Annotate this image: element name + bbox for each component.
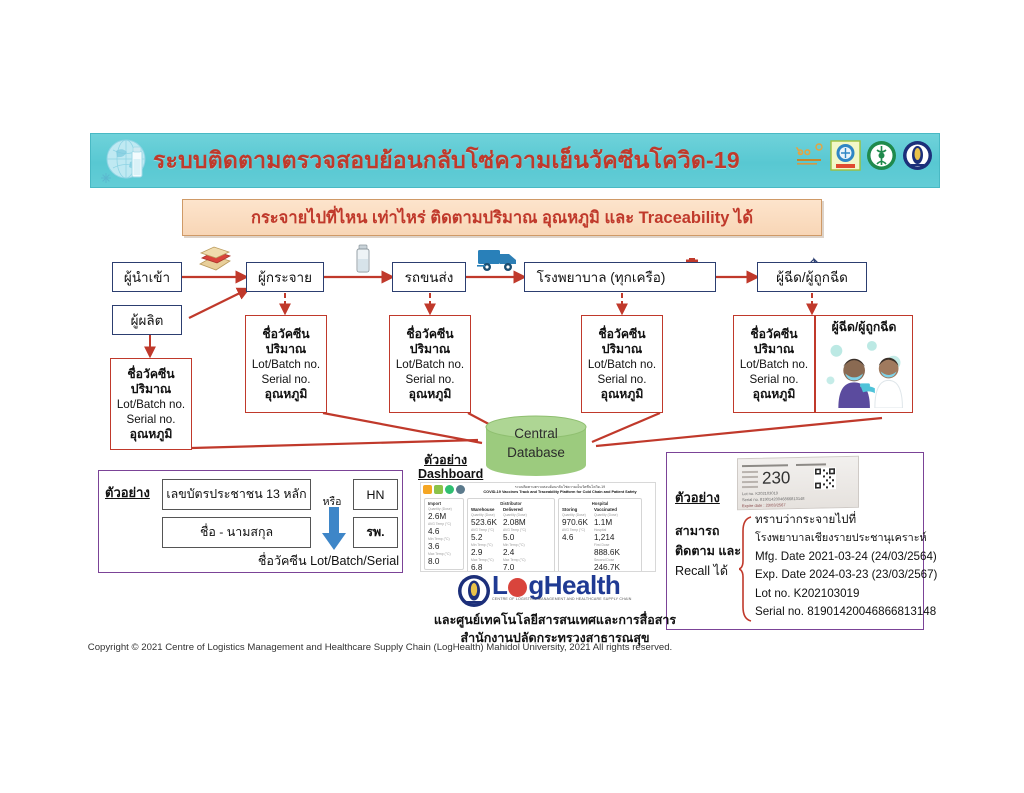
subtitle-text: กระจายไปที่ไหน เท่าไหร่ ติดตามปริมาณ อุณ… xyxy=(251,205,753,231)
dashboard-title-label: Dashboard xyxy=(418,467,483,481)
metric-delivered-avgtemp: AVG Temp (°C) 5.0 xyxy=(503,528,527,543)
loghealth-subtitle: CENTRE OF LOGISTICS MANAGEMENT AND HEALT… xyxy=(492,597,612,601)
book-stack-icon xyxy=(196,244,234,274)
segment-title: Vaccinated xyxy=(594,507,620,512)
metric-value: 2.4 xyxy=(503,548,527,558)
dashboard-screenshot[interactable]: ระบบติดตามตรวจสอบย้อนกลับโซ่ความเย็นวัคซ… xyxy=(420,482,656,572)
data-field-quantity: ปริมาณ xyxy=(754,342,794,357)
metric-delivered-mintemp: Min Temp (°C) 2.4 xyxy=(503,543,527,558)
globe-icon xyxy=(456,485,465,494)
data-field-serial: Serial no. xyxy=(750,372,799,387)
databox-injector: ชื่อวัคซีน ปริมาณ Lot/Batch no. Serial n… xyxy=(733,315,815,413)
data-field-lot: Lot/Batch no. xyxy=(396,357,464,372)
vial-label-lot: Lot no. K202103019 xyxy=(742,490,778,496)
hn-label: HN xyxy=(367,488,385,502)
mahidol-logo-icon xyxy=(457,574,491,608)
hospital-field[interactable]: รพ. xyxy=(353,517,398,548)
panel-title-hospital: Hospital xyxy=(562,501,638,506)
dashboard-segment-vaccinated: Vaccinated Quantity (Dose) 1.1M Hospital… xyxy=(594,507,620,572)
globe-vaccine-vial-icon xyxy=(96,137,166,187)
detail-line-2: โรงพยาบาลเชียงรายประชานุเคราะห์ xyxy=(755,529,925,547)
dashboard-header: ระบบติดตามตรวจสอบย้อนกลับโซ่ความเย็นวัคซ… xyxy=(421,483,655,496)
metric-import-mintemp: Min Temp (°C) 3.6 xyxy=(428,537,460,552)
metric-delivered-quantity: Quantity (Dose) 2.08M xyxy=(503,513,527,528)
dashboard-segment-delivered: Delivered Quantity (Dose) 2.08M AVG Temp… xyxy=(503,507,527,572)
crest-fda-thailand-icon xyxy=(830,140,861,171)
actor-label-importer: ผู้นำเข้า xyxy=(124,266,170,288)
dashboard-header-text: ระบบติดตามตรวจสอบย้อนกลับโซ่ความเย็นวัคซ… xyxy=(467,485,653,495)
recall-line-2: ติดตาม และ xyxy=(675,541,745,561)
central-database-label: Central Database xyxy=(484,424,588,462)
mobile-icon xyxy=(434,485,443,494)
segment-title: Storing xyxy=(562,507,588,512)
metric-value: 970.6K xyxy=(562,518,588,528)
chart-icon xyxy=(423,485,432,494)
data-field-vaccine-name: ชื่อวัคซีน xyxy=(127,367,174,382)
subtitle-bar: กระจายไปที่ไหน เท่าไหร่ ติดตามปริมาณ อุณ… xyxy=(182,199,822,236)
data-field-temperature: อุณหภูมิ xyxy=(601,387,644,402)
brace-icon xyxy=(739,515,753,623)
data-field-serial: Serial no. xyxy=(262,372,311,387)
metric-import-maxtemp: Max Temp (°C) 8.0 xyxy=(428,552,460,567)
actor-box-injector[interactable]: ผู้ฉีด/ผู้ถูกฉีด xyxy=(757,262,867,292)
example-right-label: ตัวอย่าง xyxy=(675,487,720,508)
example-box-patient-id: ตัวอย่าง เลขบัตรประชาชน 13 หลัก ชื่อ - น… xyxy=(98,470,403,573)
data-field-lot: Lot/Batch no. xyxy=(252,357,320,372)
dashboard-panel-import: Import Quantity (Dose) 2.6M AVG Temp (°C… xyxy=(424,498,464,570)
actor-label-distributor: ผู้กระจาย xyxy=(258,266,312,288)
actor-box-importer[interactable]: ผู้นำเข้า xyxy=(112,262,182,292)
dashboard-body: Import Quantity (Dose) 2.6M AVG Temp (°C… xyxy=(421,496,655,572)
metric-vaccinated-first-dose: First Dose 888.6K xyxy=(594,543,620,558)
dashboard-segment-warehouse: Warehouse Quantity (Dose) 523.6K AVG Tem… xyxy=(471,507,497,572)
detail-line-6: Serial no. 81901420046866813148 xyxy=(755,603,925,621)
example-left-footer: ชื่อวัคซีน Lot/Batch/Serial xyxy=(99,551,399,571)
hn-field[interactable]: HN xyxy=(353,479,398,510)
data-field-vaccine-name: ชื่อวัคซีน xyxy=(406,327,453,342)
vial-label-expire: Expire date : 23/03/2567 xyxy=(742,502,786,508)
metric-import-quantity: Quantity (Dose) 2.6M xyxy=(428,507,460,522)
data-field-quantity: ปริมาณ xyxy=(410,342,450,357)
vaccine-vial-icon xyxy=(350,243,376,275)
crest-ministry-public-health-icon xyxy=(866,140,897,171)
hospital-label: รพ. xyxy=(366,523,384,542)
data-field-quantity: ปริมาณ xyxy=(266,342,306,357)
metric-value: 1,214 xyxy=(594,533,620,543)
metric-value: 2.6M xyxy=(428,512,460,522)
vial-label-serial: Serial no. 81901420046866813148 xyxy=(742,496,805,502)
shield-icon xyxy=(445,485,454,494)
name-field[interactable]: ชื่อ - นามสกุล xyxy=(162,517,311,548)
data-field-lot: Lot/Batch no. xyxy=(740,357,808,372)
copyright-text: Copyright © 2021 Centre of Logistics Man… xyxy=(0,642,760,653)
panel-title-distributor: Distributor xyxy=(471,501,551,506)
vaccination-illustration xyxy=(820,337,908,408)
actor-box-hospital[interactable]: โรงพยาบาล (ทุกเครือ) xyxy=(524,262,716,292)
metric-warehouse-mintemp: Min Temp (°C) 2.9 xyxy=(471,543,497,558)
vaccine-vial-label-photo: 230 Lot no. K202103019 Serial no. 819014… xyxy=(737,456,859,511)
segment-title: Delivered xyxy=(503,507,527,512)
dashboard-panel-hospital: Hospital Storing Quantity (Dose) 970.6K … xyxy=(558,498,642,572)
detail-line-4: Exp. Date 2024-03-23 (23/03/2567) xyxy=(755,566,925,584)
actor-box-manufacturer[interactable]: ผู้ผลิต xyxy=(112,305,182,335)
databox-distributor: ชื่อวัคซีน ปริมาณ Lot/Batch no. Serial n… xyxy=(245,315,327,413)
detail-line-5: Lot no. K202103019 xyxy=(755,585,925,603)
data-field-quantity: ปริมาณ xyxy=(602,342,642,357)
panel-title-import: Import xyxy=(428,501,460,506)
loghealth-dot-icon xyxy=(508,578,527,597)
data-field-serial: Serial no. xyxy=(127,412,176,427)
injector-illustration-panel: ผู้ฉีด/ผู้ถูกฉีด xyxy=(815,315,913,413)
data-field-serial: Serial no. xyxy=(406,372,455,387)
detail-line-3: Mfg. Date 2021-03-24 (24/03/2564) xyxy=(755,548,925,566)
actor-box-transport[interactable]: รถขนส่ง xyxy=(392,262,466,292)
header-banner: ระบบติดตามตรวจสอบย้อนกลับโซ่ความเย็นวัคซ… xyxy=(90,133,940,188)
actor-label-hospital: โรงพยาบาล (ทุกเครือ) xyxy=(537,266,666,288)
data-field-temperature: อุณหภูมิ xyxy=(265,387,308,402)
databox-manufacturer: ชื่อวัคซีน ปริมาณ Lot/Batch no. Serial n… xyxy=(110,358,192,450)
id-number-field[interactable]: เลขบัตรประชาชน 13 หลัก xyxy=(162,479,311,510)
injector-panel-label: ผู้ฉีด/ผู้ถูกฉีด xyxy=(832,320,897,335)
infographic-canvas: ระบบติดตามตรวจสอบย้อนกลับโซ่ความเย็นวัคซ… xyxy=(0,0,1024,793)
metric-value: 2.9 xyxy=(471,548,497,558)
metric-import-avgtemp: AVG Temp (°C) 4.6 xyxy=(428,522,460,537)
example-left-label: ตัวอย่าง xyxy=(105,482,150,503)
traceability-details: ทราบว่ากระจายไปที่ โรงพยาบาลเชียงรายประช… xyxy=(755,511,925,621)
data-field-lot: Lot/Batch no. xyxy=(588,357,656,372)
recall-line-1: สามารถ xyxy=(675,521,745,541)
data-field-lot: Lot/Batch no. xyxy=(117,397,185,412)
metric-value: 1.1M xyxy=(594,518,620,528)
name-field-label: ชื่อ - นามสกุล xyxy=(200,523,273,542)
id-number-label: เลขบัตรประชาชน 13 หลัก xyxy=(166,485,306,504)
databox-hospital: ชื่อวัคซีน ปริมาณ Lot/Batch no. Serial n… xyxy=(581,315,663,413)
metric-value: 5.0 xyxy=(503,533,527,543)
actor-box-distributor[interactable]: ผู้กระจาย xyxy=(246,262,324,292)
footer-line-1: และศูนย์เทคโนโลยีสารสนเทศและการสื่อสาร xyxy=(355,610,755,630)
central-db-line1: Central xyxy=(484,424,588,443)
dashboard-panel-distributor: Distributor Warehouse Quantity (Dose) 52… xyxy=(467,498,555,572)
crest-60th-anniversary-icon: ๖๐ xyxy=(794,140,825,171)
metric-value: 5.2 xyxy=(471,533,497,543)
data-field-temperature: อุณหภูมิ xyxy=(130,427,173,442)
crest-row: ๖๐ xyxy=(794,140,933,171)
metric-value: 8.0 xyxy=(428,557,460,567)
metric-value: 888.6K xyxy=(594,548,620,558)
actor-label-injector: ผู้ฉีด/ผู้ถูกฉีด xyxy=(776,266,848,288)
page-title: ระบบติดตามตรวจสอบย้อนกลับโซ่ความเย็นวัคซ… xyxy=(153,143,740,179)
metric-value: 523.6K xyxy=(471,518,497,528)
detail-line-1: ทราบว่ากระจายไปที่ xyxy=(755,511,925,529)
delivery-truck-icon xyxy=(476,245,520,275)
central-db-line2: Database xyxy=(484,443,588,462)
segment-title: Warehouse xyxy=(471,507,497,512)
loghealth-text-rest: gHealth xyxy=(528,570,620,600)
metric-storing-avgtemp: AVG Temp (°C) 4.6 xyxy=(562,528,588,543)
vial-label-number: 230 xyxy=(762,468,790,489)
actor-label-transport: รถขนส่ง xyxy=(405,266,454,288)
dashboard-header-en: COVID-19 Vaccines Track and Traceability… xyxy=(467,490,653,495)
metric-storing-quantity: Quantity (Dose) 970.6K xyxy=(562,513,588,528)
databox-transport: ชื่อวัคซีน ปริมาณ Lot/Batch no. Serial n… xyxy=(389,315,471,413)
metric-vaccinated-quantity: Quantity (Dose) 1.1M xyxy=(594,513,620,528)
down-arrow-icon xyxy=(321,507,347,551)
data-field-temperature: อุณหภูมิ xyxy=(753,387,796,402)
recall-line-3: Recall ได้ xyxy=(675,561,745,581)
metric-value: 4.6 xyxy=(562,533,588,543)
data-field-vaccine-name: ชื่อวัคซีน xyxy=(262,327,309,342)
metric-value: 2.08M xyxy=(503,518,527,528)
data-field-vaccine-name: ชื่อวัคซีน xyxy=(750,327,797,342)
qr-code-icon xyxy=(814,467,836,489)
data-field-temperature: อุณหภูมิ xyxy=(409,387,452,402)
metric-warehouse-quantity: Quantity (Dose) 523.6K xyxy=(471,513,497,528)
crest-mahidol-university-icon xyxy=(902,140,933,171)
data-field-vaccine-name: ชื่อวัคซีน xyxy=(598,327,645,342)
actor-label-manufacturer: ผู้ผลิต xyxy=(131,309,164,331)
example-right-left-lines: สามารถ ติดตาม และ Recall ได้ xyxy=(675,521,745,581)
data-field-quantity: ปริมาณ xyxy=(131,382,171,397)
metric-value: 3.6 xyxy=(428,542,460,552)
svg-text:๖๐: ๖๐ xyxy=(795,144,811,158)
data-field-serial: Serial no. xyxy=(598,372,647,387)
metric-vaccinated-hospital: Hospital 1,214 xyxy=(594,528,620,543)
dashboard-segment-storing: Storing Quantity (Dose) 970.6K AVG Temp … xyxy=(562,507,588,572)
metric-value: 4.6 xyxy=(428,527,460,537)
loghealth-text-log: L xyxy=(492,570,507,600)
metric-warehouse-avgtemp: AVG Temp (°C) 5.2 xyxy=(471,528,497,543)
